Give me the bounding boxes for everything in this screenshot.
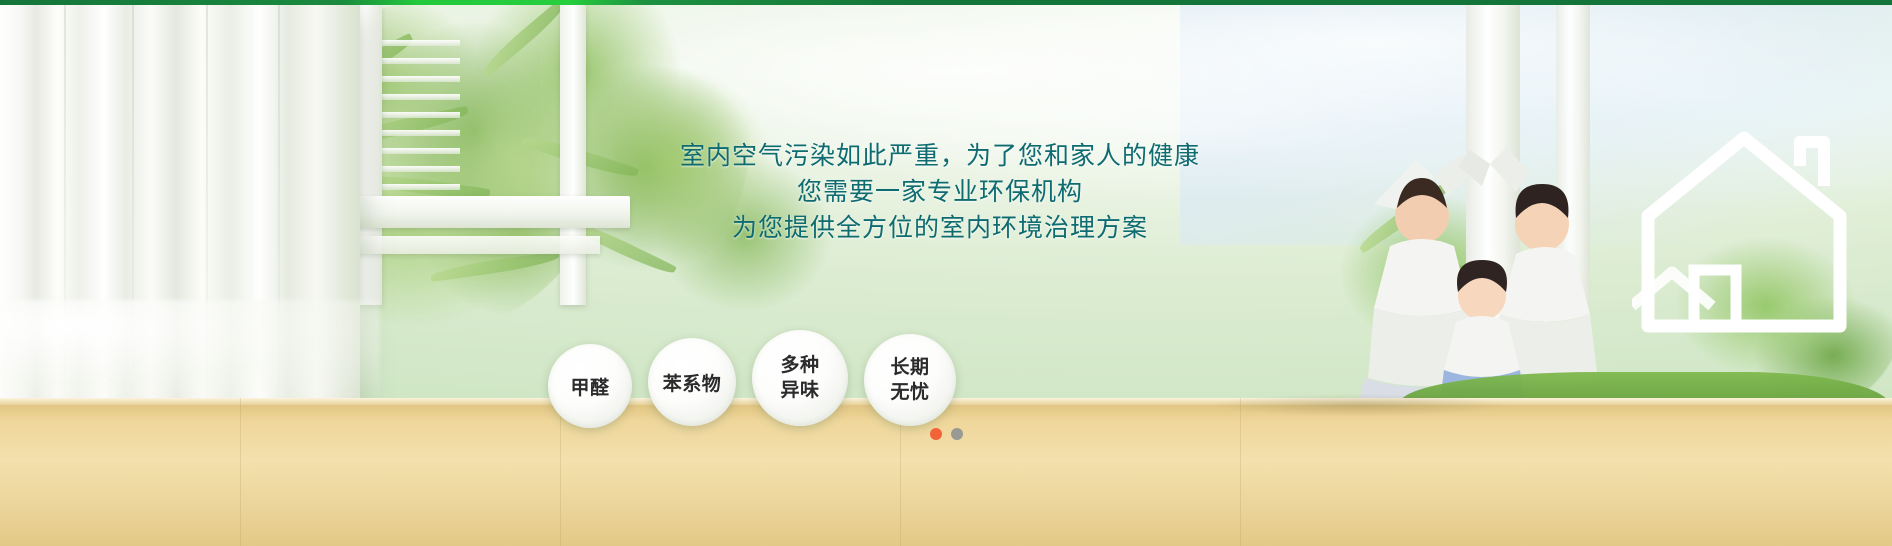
headline-line-1: 室内空气污染如此严重，为了您和家人的健康 xyxy=(560,138,1320,174)
carousel-dot-2[interactable] xyxy=(951,428,963,440)
ground-shadow xyxy=(1150,392,1570,418)
badge-formaldehyde[interactable]: 甲醛 xyxy=(548,344,632,428)
floor-seam xyxy=(240,398,241,546)
carousel-dot-1[interactable] xyxy=(930,428,942,440)
badge-odors-line1: 多种 xyxy=(780,353,819,378)
badge-longterm[interactable]: 长期 无忧 xyxy=(864,334,956,426)
badge-benzene[interactable]: 苯系物 xyxy=(648,338,736,426)
badge-formaldehyde-line1: 甲醛 xyxy=(570,373,609,400)
hero-headline: 室内空气污染如此严重，为了您和家人的健康 您需要一家专业环保机构 为您提供全方位… xyxy=(560,138,1320,246)
hero-banner: 室内空气污染如此严重，为了您和家人的健康 您需要一家专业环保机构 为您提供全方位… xyxy=(0,0,1892,546)
headline-line-2: 您需要一家专业环保机构 xyxy=(560,174,1320,210)
badge-odors[interactable]: 多种 异味 xyxy=(752,330,848,426)
floor-seam xyxy=(1240,398,1241,546)
top-green-bar xyxy=(0,0,1892,5)
carousel-pagination xyxy=(0,428,1892,440)
badge-longterm-line1: 长期 xyxy=(890,355,929,380)
headline-line-3: 为您提供全方位的室内环境治理方案 xyxy=(560,210,1320,246)
badge-odors-line2: 异味 xyxy=(780,378,819,403)
badge-longterm-line2: 无忧 xyxy=(890,380,929,405)
feature-badge-group: 甲醛 苯系物 多种 异味 长期 无忧 xyxy=(548,330,1018,425)
badge-benzene-line1: 苯系物 xyxy=(663,369,722,396)
